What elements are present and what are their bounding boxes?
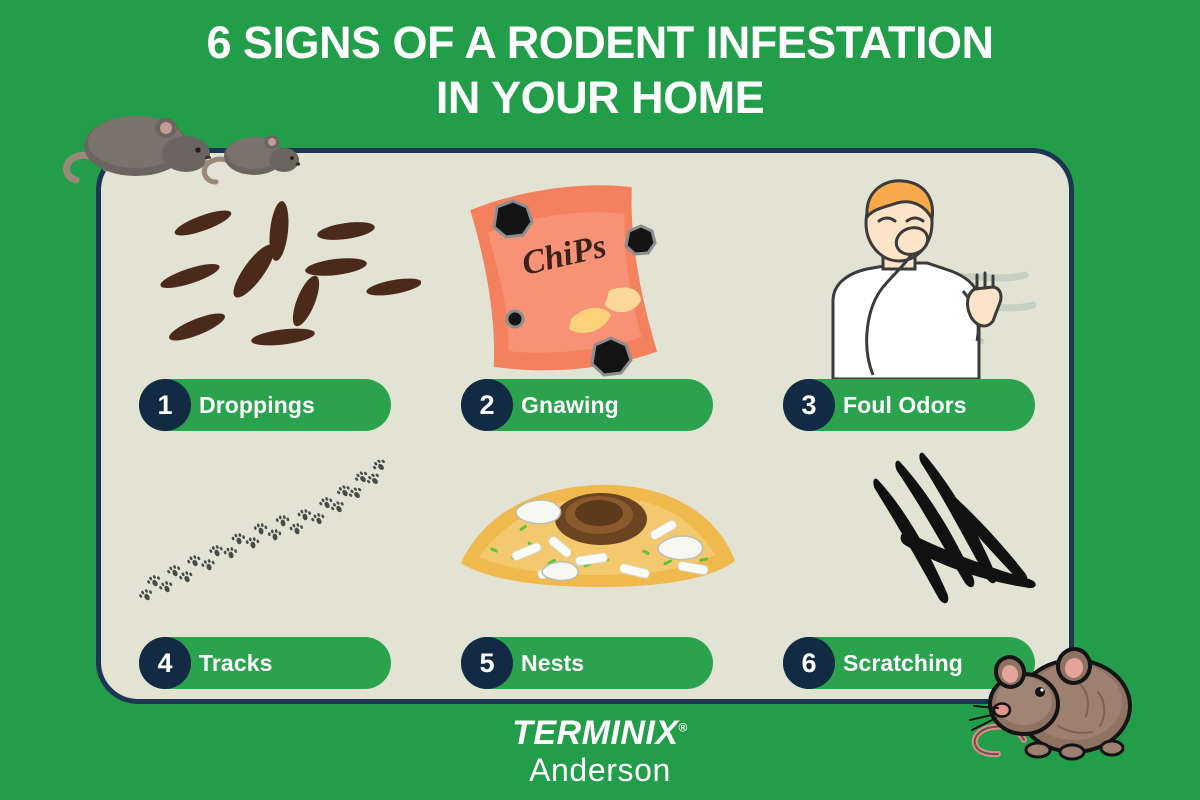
- sign-label-3: Foul Odors: [843, 392, 967, 419]
- sign-item-nests: 5 Nests: [453, 437, 743, 689]
- brand-wordmark: TERMINIX: [512, 714, 678, 752]
- rodent-droppings-illustration: [131, 179, 421, 379]
- sign-item-foul-odors: 3 Foul Odors: [775, 179, 1065, 431]
- sign-label-4: Tracks: [199, 650, 273, 677]
- sign-pill-4[interactable]: 4 Tracks: [139, 637, 391, 689]
- chewed-chip-bag-illustration: ChiPs: [453, 179, 743, 379]
- sign-number-2: 2: [461, 379, 513, 431]
- sign-item-tracks: 4 Tracks: [131, 437, 421, 689]
- sign-number-4: 4: [139, 637, 191, 689]
- person-pinching-nose-illustration: [775, 179, 1065, 379]
- sign-item-droppings: 1 Droppings: [131, 179, 421, 431]
- sign-pill-5[interactable]: 5 Nests: [461, 637, 713, 689]
- sign-label-2: Gnawing: [521, 392, 619, 419]
- paw-print-trail-illustration: [131, 437, 421, 637]
- sign-number-3: 3: [783, 379, 835, 431]
- brand-logo: TERMINIX® Anderson: [0, 716, 1200, 786]
- sign-pill-1[interactable]: 1 Droppings: [139, 379, 391, 431]
- infographic-poster: 6 Signs of a Rodent Infestation In Your …: [0, 0, 1200, 800]
- sign-number-6: 6: [783, 637, 835, 689]
- sign-number-1: 1: [139, 379, 191, 431]
- sign-number-5: 5: [461, 637, 513, 689]
- sign-pill-3[interactable]: 3 Foul Odors: [783, 379, 1035, 431]
- registered-trademark-icon: ®: [679, 721, 688, 735]
- straw-nest-burrow-illustration: [453, 437, 743, 637]
- sign-label-1: Droppings: [199, 392, 315, 419]
- signs-card: 1 Droppings ChiPs: [96, 148, 1074, 704]
- two-rats-decoration: [58, 98, 318, 198]
- sign-item-gnawing: ChiPs 2 Gnawing: [453, 179, 743, 431]
- brand-sub-name-anderson: Anderson: [0, 754, 1200, 786]
- sign-label-5: Nests: [521, 650, 584, 677]
- sign-label-6: Scratching: [843, 650, 963, 677]
- brand-name-terminix: TERMINIX®: [512, 716, 688, 750]
- sign-pill-2[interactable]: 2 Gnawing: [461, 379, 713, 431]
- claw-scratch-marks-illustration: [775, 437, 1065, 637]
- title-line-1: 6 Signs of a Rodent Infestation: [0, 16, 1200, 71]
